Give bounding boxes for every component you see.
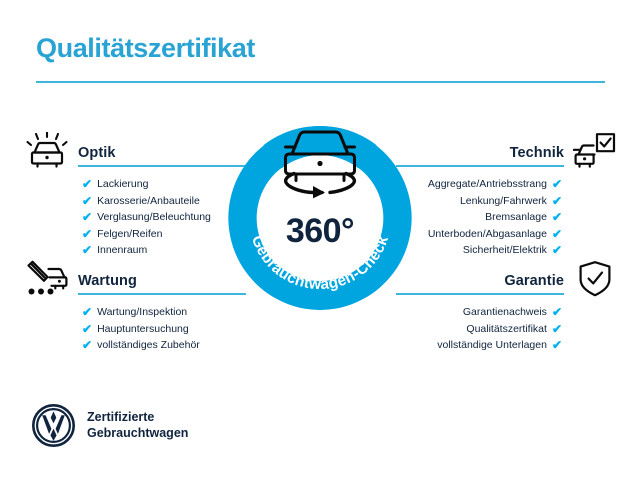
footer: Zertifizierte Gebrauchtwagen (32, 404, 188, 447)
section-technik-underline (396, 165, 564, 167)
section-garantie-header: Garantie (396, 260, 618, 298)
car-shine-icon (24, 132, 70, 170)
list-item-label: Felgen/Reifen (97, 226, 162, 243)
list-item-label: Bremsanlage (485, 209, 547, 226)
check-icon: ✔ (82, 323, 92, 335)
badge-degrees: 360° (228, 212, 412, 251)
footer-line-1: Zertifizierte (87, 410, 188, 426)
section-optik-underline (78, 165, 246, 167)
page-title: Qualitätszertifikat (36, 33, 255, 64)
section-garantie-list: ✔ Garantienachweis ✔ Qualitätszertifikat… (396, 304, 618, 354)
check-icon: ✔ (82, 244, 92, 256)
list-item-label: Hauptuntersuchung (97, 321, 189, 338)
list-item: ✔ Aggregate/Antriebsstrang (396, 176, 562, 193)
list-item: ✔ Sicherheit/Elektrik (396, 242, 562, 259)
list-item-label: Verglasung/Beleuchtung (97, 209, 211, 226)
list-item: ✔ Lenkung/Fahrwerk (396, 193, 562, 210)
list-item: ✔ vollständiges Zubehör (82, 337, 246, 354)
check-icon: ✔ (552, 244, 562, 256)
section-wartung-title-wrap: Wartung (78, 272, 246, 295)
check-icon: ✔ (552, 339, 562, 351)
list-item: ✔ Unterboden/Abgasanlage (396, 226, 562, 243)
section-technik-title: Technik (396, 144, 564, 162)
section-technik: Technik ✔ Aggregate/Antriebsstrang ✔ Len… (396, 132, 618, 259)
check-icon: ✔ (552, 178, 562, 190)
list-item-label: vollständige Unterlagen (437, 337, 547, 354)
list-item-label: Innenraum (97, 242, 147, 259)
check-icon: ✔ (82, 211, 92, 223)
section-wartung-underline (78, 293, 246, 295)
check-icon: ✔ (82, 339, 92, 351)
list-item-label: Unterboden/Abgasanlage (428, 226, 547, 243)
list-item: ✔ Garantienachweis (396, 304, 562, 321)
section-wartung-list: ✔ Wartung/Inspektion ✔ Hauptuntersuchung… (24, 304, 246, 354)
car-rotate-icon (268, 122, 372, 200)
list-item-label: Aggregate/Antriebsstrang (428, 176, 547, 193)
list-item-label: Wartung/Inspektion (97, 304, 187, 321)
section-optik: Optik ✔ Lackierung ✔ Karosserie/Anbautei… (24, 132, 246, 259)
list-item: ✔ Innenraum (82, 242, 246, 259)
list-item-label: Garantienachweis (463, 304, 547, 321)
title-divider (36, 81, 605, 83)
car-checkbox-icon (572, 132, 618, 170)
check-icon: ✔ (82, 178, 92, 190)
wrench-car-icon (24, 260, 70, 298)
footer-line-2: Gebrauchtwagen (87, 426, 188, 442)
list-item: ✔ Qualitätszertifikat (396, 321, 562, 338)
list-item: ✔ Wartung/Inspektion (82, 304, 246, 321)
section-wartung: Wartung ✔ Wartung/Inspektion ✔ Hauptunte… (24, 260, 246, 354)
list-item: ✔ Verglasung/Beleuchtung (82, 209, 246, 226)
check-icon: ✔ (552, 306, 562, 318)
volkswagen-logo (32, 404, 75, 447)
section-technik-title-wrap: Technik (396, 144, 564, 167)
check-icon: ✔ (82, 306, 92, 318)
section-wartung-header: Wartung (24, 260, 246, 298)
gebrauchtwagen-check-badge: Gebrauchtwagen-Check (228, 126, 412, 310)
section-garantie-title-wrap: Garantie (396, 272, 564, 295)
list-item: ✔ vollständige Unterlagen (396, 337, 562, 354)
certificate-page: Qualitätszertifikat (0, 0, 640, 480)
footer-text: Zertifizierte Gebrauchtwagen (87, 410, 188, 441)
list-item: ✔ Felgen/Reifen (82, 226, 246, 243)
check-icon: ✔ (82, 228, 92, 240)
list-item: ✔ Bremsanlage (396, 209, 562, 226)
section-garantie: Garantie ✔ Garantienachweis ✔ Qualitätsz… (396, 260, 618, 354)
section-garantie-underline (396, 293, 564, 295)
section-optik-title-wrap: Optik (78, 144, 246, 167)
check-icon: ✔ (552, 323, 562, 335)
list-item: ✔ Lackierung (82, 176, 246, 193)
list-item-label: vollständiges Zubehör (97, 337, 200, 354)
section-technik-header: Technik (396, 132, 618, 170)
list-item-label: Lackierung (97, 176, 148, 193)
section-optik-list: ✔ Lackierung ✔ Karosserie/Anbauteile ✔ V… (24, 176, 246, 259)
section-garantie-title: Garantie (396, 272, 564, 290)
check-icon: ✔ (552, 228, 562, 240)
check-icon: ✔ (552, 211, 562, 223)
section-wartung-title: Wartung (78, 272, 246, 290)
shield-check-icon (572, 260, 618, 298)
list-item-label: Lenkung/Fahrwerk (460, 193, 547, 210)
rotation-arrow-icon (313, 186, 325, 198)
check-icon: ✔ (552, 195, 562, 207)
list-item: ✔ Karosserie/Anbauteile (82, 193, 246, 210)
section-optik-header: Optik (24, 132, 246, 170)
list-item-label: Sicherheit/Elektrik (463, 242, 547, 259)
check-icon: ✔ (82, 195, 92, 207)
section-technik-list: ✔ Aggregate/Antriebsstrang ✔ Lenkung/Fah… (396, 176, 618, 259)
list-item-label: Qualitätszertifikat (466, 321, 547, 338)
list-item: ✔ Hauptuntersuchung (82, 321, 246, 338)
section-optik-title: Optik (78, 144, 246, 162)
list-item-label: Karosserie/Anbauteile (97, 193, 200, 210)
